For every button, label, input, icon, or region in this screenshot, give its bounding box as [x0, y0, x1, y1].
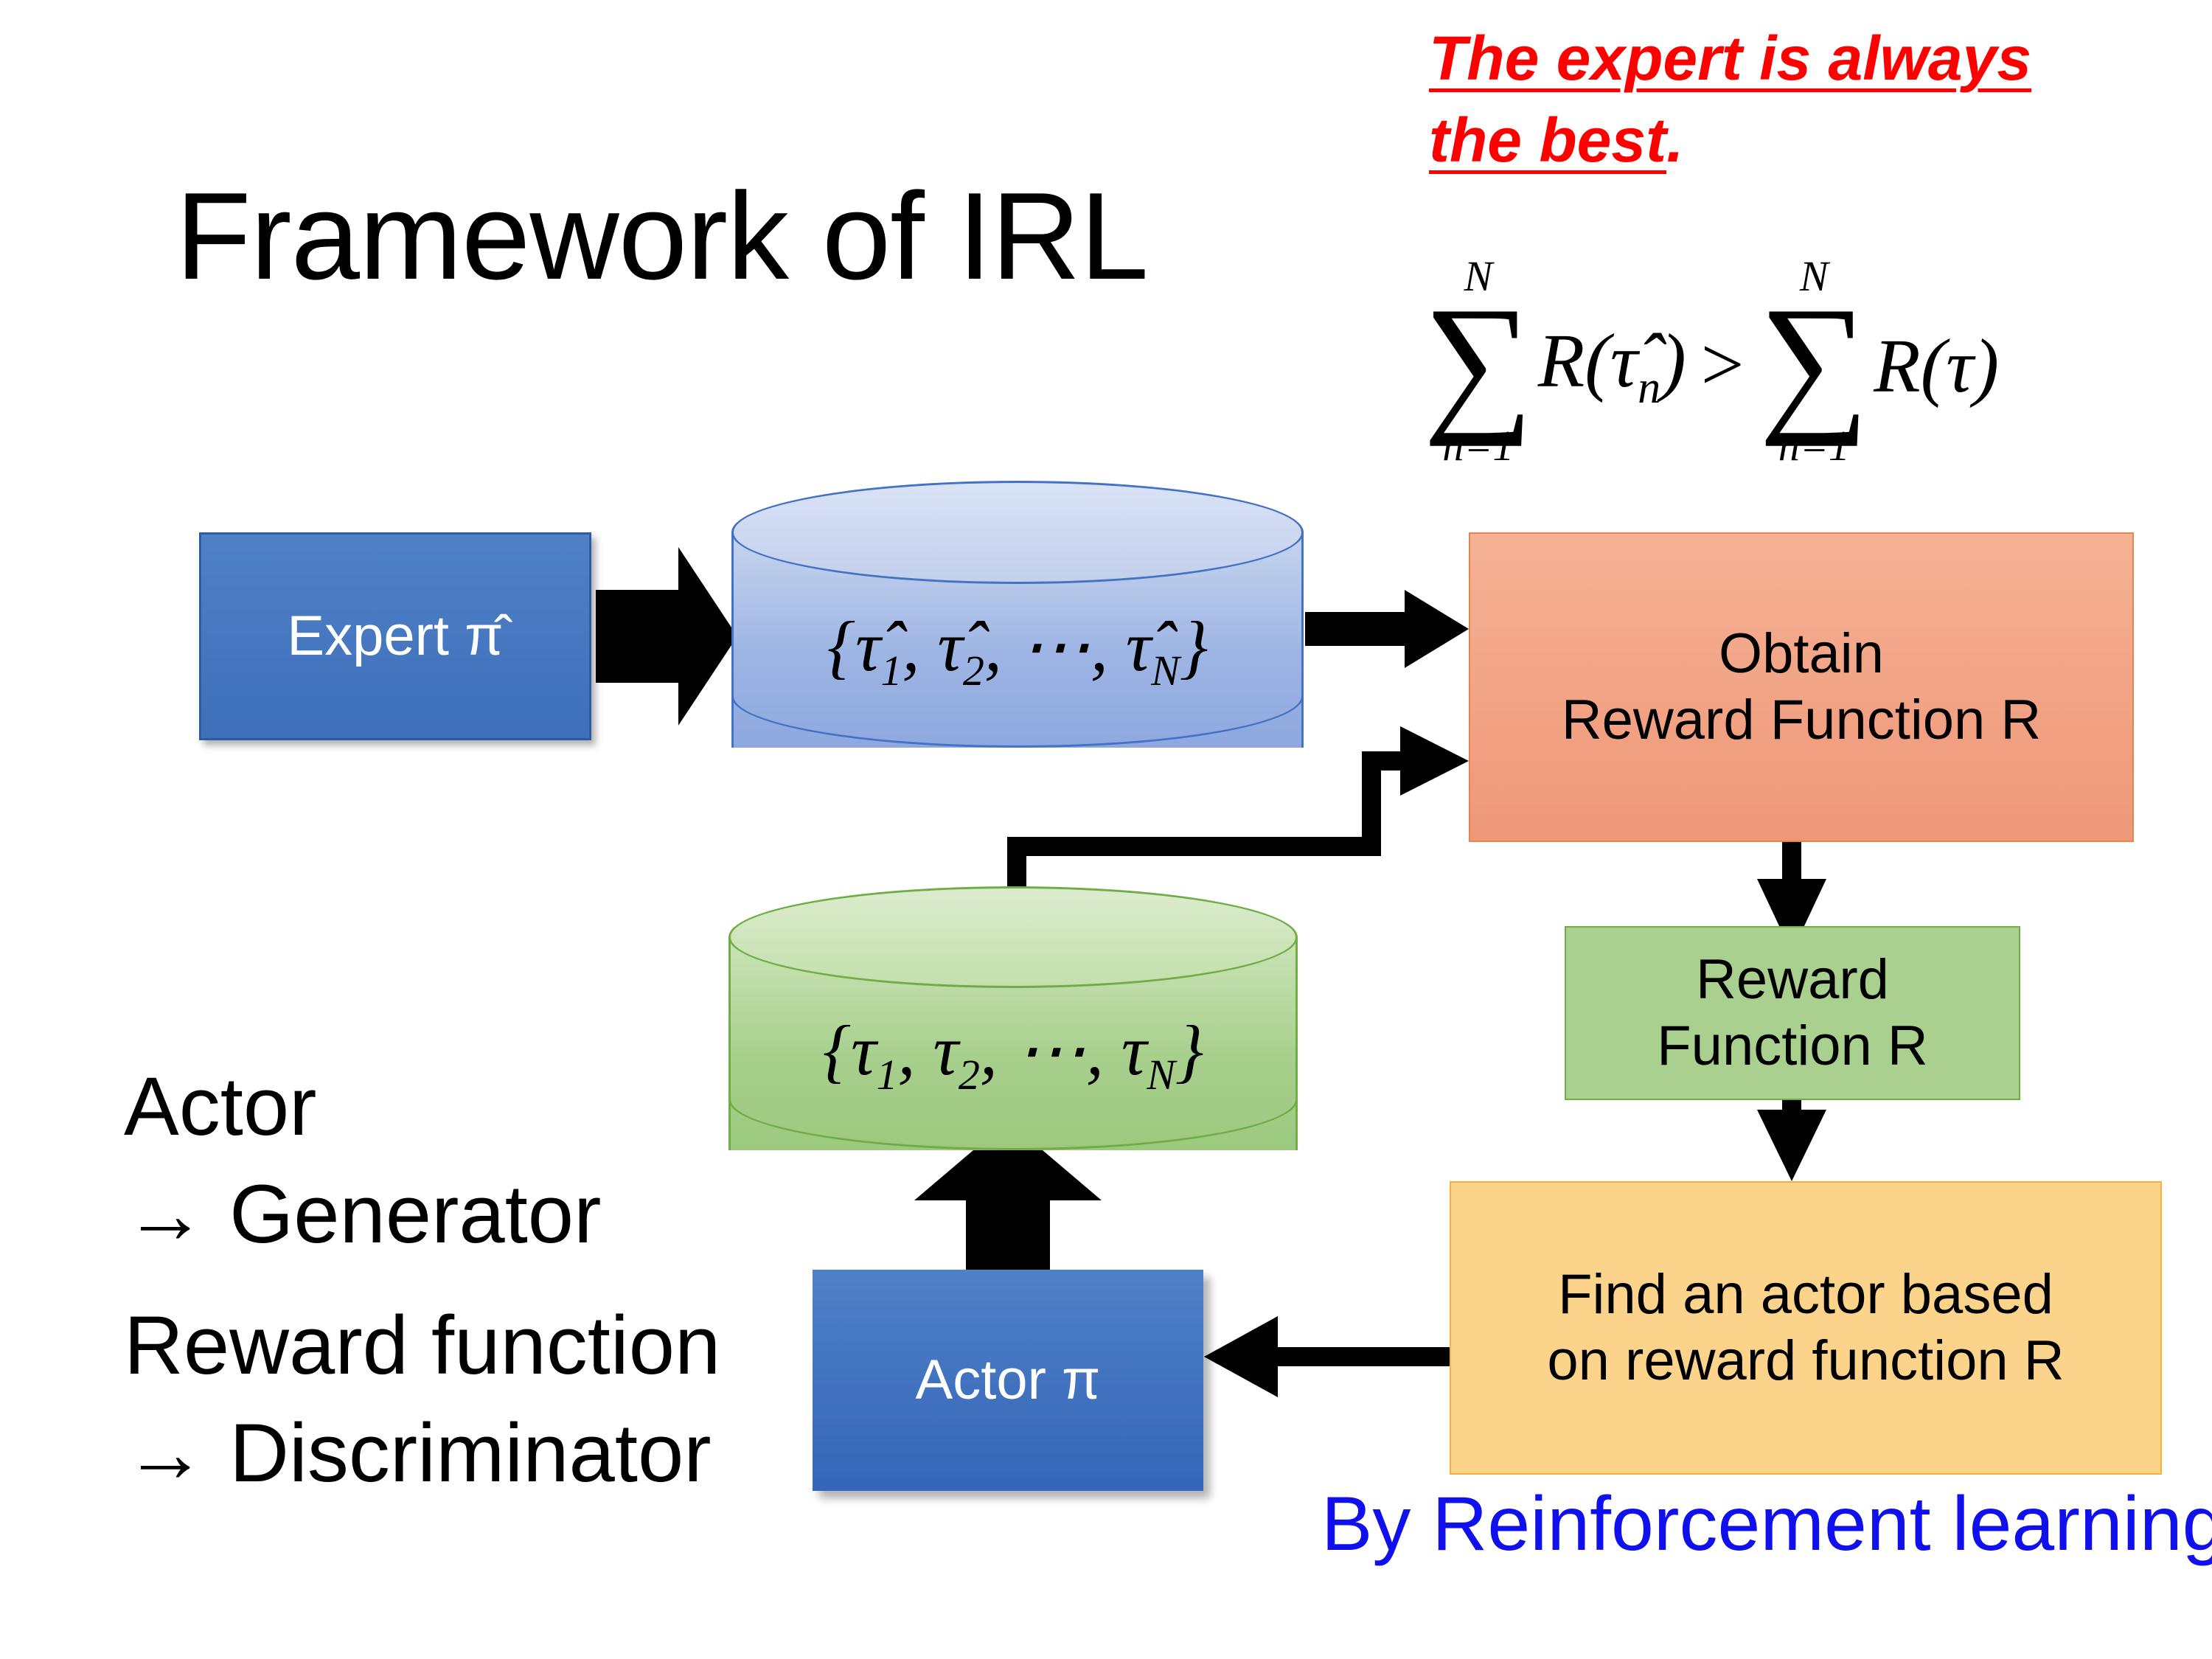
- left-summation: N ∑ n=1: [1423, 255, 1534, 467]
- left-sum-term: R(τ̂n): [1538, 317, 1686, 414]
- arrow-expert-to-expert-trajectories: [596, 547, 737, 726]
- expert-policy-label: Expert π̂: [287, 603, 503, 669]
- arrowhead-find-actor-to-actor: [1204, 1316, 1278, 1397]
- actor-policy-label: Actor π: [916, 1347, 1101, 1413]
- tau-2: τ: [933, 1011, 958, 1090]
- arrow-expert-trajectories-to-obtain: [1305, 590, 1469, 668]
- find-actor-line-2: on reward function R: [1547, 1329, 2064, 1392]
- reinforcement-learning-caption: By Reinforcement learning: [1321, 1481, 2212, 1568]
- cylinder-top-blue: [731, 481, 1304, 584]
- callout-period: .: [1666, 105, 1683, 175]
- find-actor-label: Find an actor based on reward function R: [1547, 1262, 2064, 1394]
- left-term-subscript: n: [1638, 363, 1660, 413]
- callout-line-1: The expert is always: [1429, 24, 2031, 93]
- ellipsis-icon: ⋯: [1015, 1011, 1086, 1090]
- ellipsis-icon: ⋯: [1020, 607, 1091, 686]
- tau-hat-n-sub: N: [1151, 647, 1180, 695]
- set-close-brace: }: [1175, 1011, 1203, 1090]
- tau-1-sub: 1: [876, 1051, 897, 1099]
- reward-function-line-1: Reward: [1696, 948, 1889, 1011]
- expert-policy-node[interactable]: Expert π̂: [199, 532, 591, 740]
- tau-hat-2: τ̂: [937, 607, 962, 686]
- arrowhead-reward-function-to-find-actor: [1757, 1110, 1826, 1181]
- obtain-reward-function-node[interactable]: Obtain Reward Function R: [1469, 532, 2134, 842]
- obtain-reward-line-2: Reward Function R: [1562, 689, 2042, 751]
- tau-n: τ: [1121, 1011, 1147, 1090]
- actor-trajectory-store: {τ1, τ2, ⋯, τN}: [728, 886, 1298, 1203]
- find-actor-line-1: Find an actor based: [1558, 1263, 2053, 1326]
- tau-hat-2-sub: 2: [963, 647, 984, 695]
- set-open-brace: {: [827, 607, 855, 686]
- tau-hat-1-sub: 1: [880, 647, 902, 695]
- set-close-brace: }: [1180, 607, 1208, 686]
- expert-trajectory-set-label: {τ̂1, τ̂2, ⋯, τ̂N}: [731, 605, 1304, 695]
- tau-1: τ: [851, 1011, 876, 1090]
- arrowhead-actor-trajectories-to-obtain: [1400, 726, 1469, 796]
- tau-n-sub: N: [1147, 1051, 1175, 1099]
- actor-policy-node[interactable]: Actor π: [813, 1270, 1203, 1491]
- find-actor-node[interactable]: Find an actor based on reward function R: [1450, 1181, 2162, 1475]
- actor-note-line-2: → Generator: [124, 1161, 601, 1268]
- right-sum-term: R(τ): [1874, 322, 1999, 410]
- tau-2-sub: 2: [959, 1051, 980, 1099]
- reward-function-label: Reward Function R: [1657, 947, 1928, 1079]
- right-sum-lower-limit: n=1: [1778, 425, 1850, 467]
- reward-note-line-2: → Discriminator: [124, 1399, 720, 1507]
- callout-line-2: the best: [1429, 105, 1666, 175]
- expert-trajectory-store: {τ̂1, τ̂2, ⋯, τ̂N}: [731, 481, 1304, 799]
- left-term-close: ): [1660, 319, 1686, 403]
- tau-hat-1: τ̂: [855, 607, 880, 686]
- actor-trajectory-set-label: {τ1, τ2, ⋯, τN}: [728, 1009, 1298, 1099]
- left-sigma-icon: ∑: [1423, 298, 1534, 425]
- cylinder-top-green: [728, 886, 1298, 988]
- set-open-brace: {: [823, 1011, 851, 1090]
- actor-note-line-1: Actor: [124, 1053, 601, 1161]
- obtain-reward-label: Obtain Reward Function R: [1562, 621, 2042, 753]
- reward-function-line-2: Function R: [1657, 1015, 1928, 1077]
- reward-note-line-1: Reward function: [124, 1292, 720, 1399]
- actor-generator-note: Actor → Generator: [124, 1053, 601, 1267]
- reward-function-node[interactable]: Reward Function R: [1565, 926, 2020, 1100]
- slide-canvas: Framework of IRL The expert is always th…: [0, 0, 2212, 1659]
- reward-discriminator-note: Reward function → Discriminator: [124, 1292, 720, 1506]
- greater-than-operator: >: [1691, 321, 1755, 408]
- left-term-head: R(τ̂: [1538, 319, 1638, 403]
- expert-callout-note: The expert is always the best.: [1429, 18, 2122, 181]
- tau-hat-n: τ̂: [1126, 607, 1151, 686]
- reward-inequality-formula: N ∑ n=1 R(τ̂n) > N ∑ n=1 R(τ): [1423, 221, 2146, 501]
- left-sum-lower-limit: n=1: [1442, 425, 1514, 467]
- right-summation: N ∑ n=1: [1759, 255, 1869, 467]
- page-title: Framework of IRL: [175, 171, 1148, 301]
- right-sigma-icon: ∑: [1759, 298, 1869, 425]
- obtain-reward-line-1: Obtain: [1719, 622, 1884, 685]
